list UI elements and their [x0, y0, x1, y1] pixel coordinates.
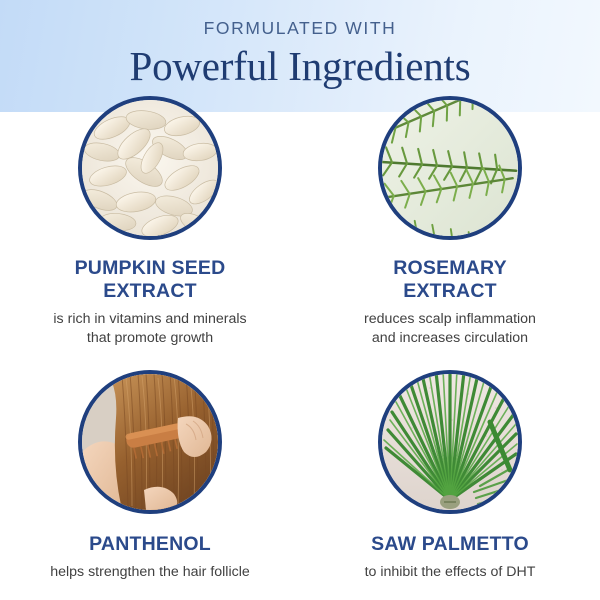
- ingredient-desc-line-2: and increases circulation: [372, 330, 528, 346]
- ingredient-desc-line-1: to inhibit the effects of DHT: [365, 564, 536, 580]
- ingredient-description: reduces scalp inflammation and increases…: [364, 310, 536, 348]
- ingredient-title: PANTHENOL: [89, 533, 211, 556]
- ingredient-title-line-2: EXTRACT: [403, 280, 496, 302]
- ingredient-card-saw-palmetto: SAW PALMETTO to inhibit the effects of D…: [300, 370, 600, 582]
- ingredient-title-line-1: ROSEMARY: [393, 257, 507, 279]
- ingredient-title-line-1: PUMPKIN SEED: [75, 257, 226, 279]
- ingredient-title-line-1: SAW PALMETTO: [371, 533, 529, 555]
- ingredient-title-line-1: PANTHENOL: [89, 533, 211, 555]
- ingredient-description: helps strengthen the hair follicle: [50, 563, 250, 582]
- ingredient-title: PUMPKIN SEED EXTRACT: [75, 257, 226, 303]
- ingredients-row-1: PUMPKIN SEED EXTRACT is rich in vitamins…: [0, 96, 600, 348]
- pumpkin-seeds-photo: [78, 96, 222, 240]
- ingredient-card-rosemary: ROSEMARY EXTRACT reduces scalp inflammat…: [300, 96, 600, 348]
- hair-combing-photo: [78, 370, 222, 514]
- header-text-block: FORMULATED WITH Powerful Ingredients: [0, 20, 600, 88]
- ingredient-desc-line-2: that promote growth: [87, 330, 213, 346]
- ingredient-title: SAW PALMETTO: [371, 533, 529, 556]
- ingredients-grid: PUMPKIN SEED EXTRACT is rich in vitamins…: [0, 96, 600, 583]
- page-title: Powerful Ingredients: [0, 45, 600, 88]
- hair-combing-illustration: [82, 374, 218, 510]
- ingredients-row-2: PANTHENOL helps strengthen the hair foll…: [0, 370, 600, 582]
- pumpkin-seeds-illustration: [82, 100, 218, 236]
- ingredient-desc-line-1: helps strengthen the hair follicle: [50, 564, 250, 580]
- ingredient-title-line-2: EXTRACT: [103, 280, 196, 302]
- ingredient-desc-line-1: reduces scalp inflammation: [364, 311, 536, 327]
- saw-palmetto-frond-photo: [378, 370, 522, 514]
- header-kicker: FORMULATED WITH: [0, 20, 600, 38]
- ingredient-card-pumpkin-seed: PUMPKIN SEED EXTRACT is rich in vitamins…: [0, 96, 300, 348]
- saw-palmetto-illustration: [382, 374, 518, 510]
- ingredient-card-panthenol: PANTHENOL helps strengthen the hair foll…: [0, 370, 300, 582]
- rosemary-illustration: [382, 100, 518, 236]
- ingredient-title: ROSEMARY EXTRACT: [393, 257, 507, 303]
- ingredient-description: to inhibit the effects of DHT: [365, 563, 536, 582]
- rosemary-sprigs-photo: [378, 96, 522, 240]
- ingredient-desc-line-1: is rich in vitamins and minerals: [53, 311, 246, 327]
- ingredient-description: is rich in vitamins and minerals that pr…: [53, 310, 246, 348]
